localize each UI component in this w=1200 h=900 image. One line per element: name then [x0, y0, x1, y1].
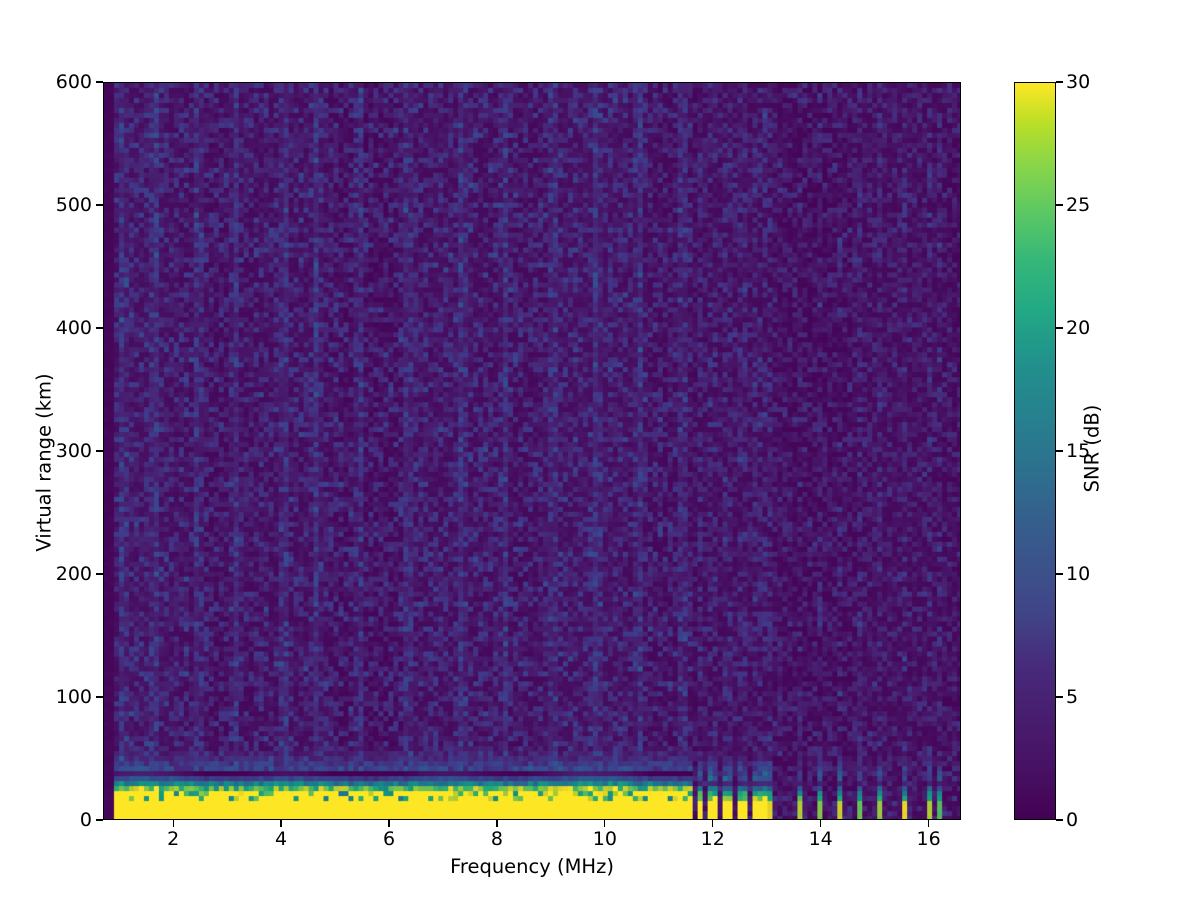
colorbar-label: SNR (dB): [1081, 319, 1104, 579]
x-tick-mark: [280, 820, 281, 827]
y-tick-mark: [96, 573, 103, 574]
x-tick-mark: [388, 820, 389, 827]
x-tick-mark: [820, 820, 821, 827]
x-tick-mark: [496, 820, 497, 827]
colorbar-gradient: [1015, 83, 1055, 819]
x-axis-label: Frequency (MHz): [103, 855, 961, 878]
x-tick-label: 4: [251, 828, 311, 850]
x-tick-mark: [604, 820, 605, 827]
x-tick-label: 6: [359, 828, 419, 850]
colorbar-tick-mark: [1056, 81, 1063, 82]
colorbar-tick-label: 30: [1066, 71, 1090, 93]
colorbar-tick-mark: [1056, 819, 1063, 820]
y-tick-label: 100: [26, 686, 92, 708]
colorbar-tick-mark: [1056, 696, 1063, 697]
y-tick-label: 0: [26, 809, 92, 831]
colorbar-tick-label: 5: [1066, 686, 1078, 708]
colorbar-tick-mark: [1056, 450, 1063, 451]
y-axis-label: Virtual range (km): [33, 333, 56, 593]
x-tick-label: 2: [143, 828, 203, 850]
colorbar-tick-mark: [1056, 204, 1063, 205]
y-tick-mark: [96, 819, 103, 820]
colorbar-tick-label: 0: [1066, 809, 1078, 831]
ionogram-heatmap: [104, 83, 960, 819]
y-tick-label: 500: [26, 194, 92, 216]
x-tick-label: 14: [791, 828, 851, 850]
y-tick-mark: [96, 81, 103, 82]
colorbar-tick-mark: [1056, 327, 1063, 328]
x-tick-mark: [928, 820, 929, 827]
colorbar: [1014, 82, 1056, 820]
x-tick-mark: [712, 820, 713, 827]
x-tick-mark: [173, 820, 174, 827]
y-tick-mark: [96, 204, 103, 205]
colorbar-tick-mark: [1056, 573, 1063, 574]
y-tick-label: 600: [26, 71, 92, 93]
y-tick-mark: [96, 327, 103, 328]
x-tick-label: 8: [467, 828, 527, 850]
y-tick-mark: [96, 450, 103, 451]
colorbar-tick-label: 25: [1066, 194, 1090, 216]
ionogram-figure: IRF Kiruna Ionosonde KI167 2025-10-01 06…: [0, 0, 1200, 900]
ionogram-plot-area: [103, 82, 961, 820]
x-tick-label: 10: [575, 828, 635, 850]
x-tick-label: 16: [899, 828, 959, 850]
x-tick-label: 12: [683, 828, 743, 850]
y-tick-mark: [96, 696, 103, 697]
